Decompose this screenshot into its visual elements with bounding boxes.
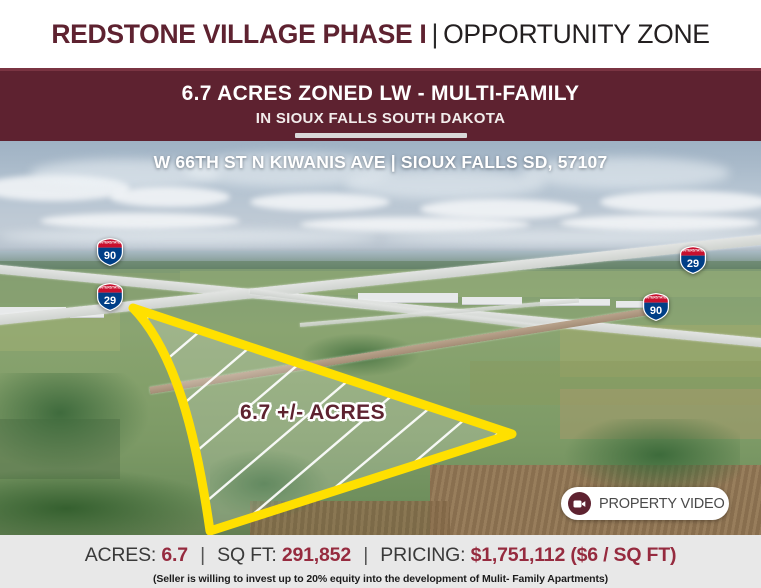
sqft-label: SQ FT: [217,544,276,566]
title-primary: REDSTONE VILLAGE PHASE I [51,19,426,49]
svg-text:90: 90 [104,250,116,262]
svg-text:29: 29 [104,295,116,307]
page-title: REDSTONE VILLAGE PHASE I|OPPORTUNITY ZON… [51,19,709,50]
svg-text:INTERSTATE: INTERSTATE [683,249,705,253]
shield-i29-west: INTERSTATE 29 [95,282,125,312]
shield-i29-east: INTERSTATE 29 [678,245,708,275]
svg-text:INTERSTATE: INTERSTATE [100,241,122,245]
pricing-label: PRICING: [380,544,465,566]
svg-text:INTERSTATE: INTERSTATE [100,286,122,290]
parcel-overlay [0,141,761,535]
stats-bar: ACRES: 6.7 | SQ FT: 291,852 | PRICING: $… [0,535,761,588]
svg-text:INTERSTATE: INTERSTATE [646,296,668,300]
property-address: W 66TH ST N KIWANIS AVE | SIOUX FALLS SD… [0,152,761,173]
svg-text:29: 29 [687,258,699,270]
svg-text:90: 90 [650,305,662,317]
acres-label: ACRES: [85,544,156,566]
headline-banner: 6.7 ACRES ZONED LW - MULTI-FAMILY IN SIO… [0,68,761,141]
video-camera-icon [568,492,591,515]
parcel-acreage-label: 6.7 +/- ACRES [240,401,385,425]
stats-disclaimer: (Seller is willing to invest up to 20% e… [0,573,761,585]
flyer-header: REDSTONE VILLAGE PHASE I|OPPORTUNITY ZON… [0,0,761,68]
shield-i90-east: INTERSTATE 90 [641,292,671,322]
title-separator: | [426,19,443,49]
acres-value: 6.7 [161,544,188,566]
property-video-button[interactable]: PROPERTY VIDEO [561,487,729,520]
property-flyer: REDSTONE VILLAGE PHASE I|OPPORTUNITY ZON… [0,0,761,588]
title-secondary: OPPORTUNITY ZONE [443,19,710,49]
banner-headline: 6.7 ACRES ZONED LW - MULTI-FAMILY [0,82,761,106]
aerial-photo: INTERSTATE 90 INTERSTATE 29 INTERSTATE 2… [0,141,761,535]
stats-separator-2: | [356,544,375,566]
banner-subhead: IN SIOUX FALLS SOUTH DAKOTA [0,110,761,127]
banner-divider [295,133,467,138]
stats-line: ACRES: 6.7 | SQ FT: 291,852 | PRICING: $… [0,535,761,567]
property-video-label: PROPERTY VIDEO [599,496,725,512]
pricing-value: $1,751,112 ($6 / SQ FT) [471,544,677,566]
stats-separator-1: | [193,544,212,566]
sqft-value: 291,852 [282,544,351,566]
shield-i90-west: INTERSTATE 90 [95,237,125,267]
